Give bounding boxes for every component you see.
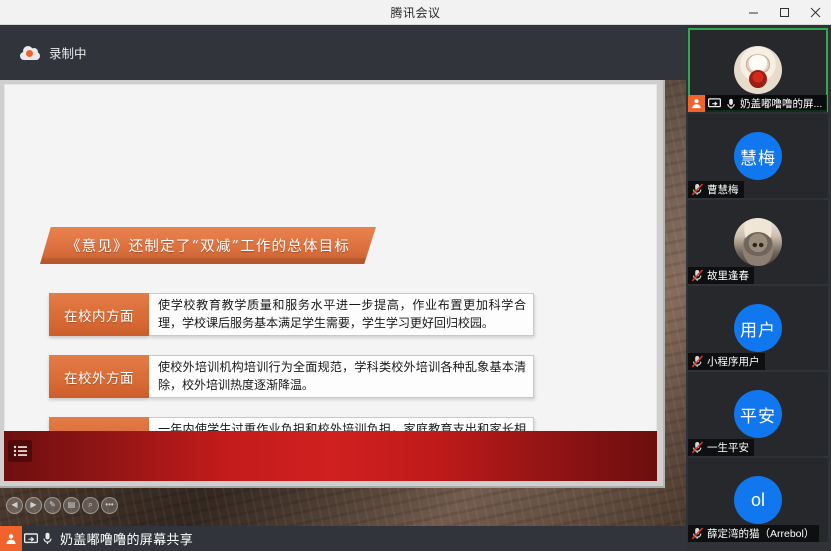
participant-rail[interactable]: 奶盖嘟噜噜的屏... 慧梅 曹慧梅 bbox=[686, 25, 831, 551]
window-titlebar: 腾讯会议 bbox=[0, 0, 831, 25]
maximize-button[interactable] bbox=[769, 0, 800, 25]
window-controls bbox=[738, 0, 831, 25]
zoom-tool-button[interactable]: ⌕ bbox=[82, 497, 99, 514]
microphone-muted-icon bbox=[691, 355, 704, 368]
recording-indicator[interactable]: 录制中 bbox=[20, 43, 87, 62]
presenter-chip: 奶盖嘟噜噜的屏幕共享 bbox=[0, 526, 193, 551]
previous-slide-button[interactable]: ◀ bbox=[6, 497, 23, 514]
participant-nametag: 故里逢春 bbox=[688, 267, 754, 284]
participant-nametag: 薛定湾的猫（Arrebol） bbox=[688, 525, 819, 542]
slide-footer-band bbox=[4, 431, 657, 481]
slide-row-body: 使校外培训机构培训行为全面规范，学科类校外培训各种乱象基本清除，校外培训热度逐渐… bbox=[149, 355, 534, 398]
recording-label: 录制中 bbox=[49, 43, 87, 62]
slide-banner: 《意见》还制定了“双减”工作的总体目标 bbox=[40, 227, 376, 264]
participant-name: 一生平安 bbox=[707, 440, 749, 455]
participant-nametag: 小程序用户 bbox=[688, 353, 765, 370]
presenter-name-label: 奶盖嘟噜噜的屏幕共享 bbox=[60, 529, 193, 548]
meeting-stage: 录制中 《意见》还制定了“双减”工作的总体目标 在校内方面 使学校教 bbox=[0, 25, 686, 551]
avatar: ol bbox=[734, 476, 782, 524]
participant-nametag: 奶盖嘟噜噜的屏... bbox=[688, 95, 827, 112]
microphone-icon bbox=[39, 526, 56, 551]
presentation-slide: 《意见》还制定了“双减”工作的总体目标 在校内方面 使学校教育教学质量和服务水平… bbox=[4, 84, 657, 481]
participant-name: 曹慧梅 bbox=[707, 182, 739, 197]
window-title: 腾讯会议 bbox=[390, 4, 440, 21]
slide-row-text: 使学校教育教学质量和服务水平进一步提高，作业布置更加科学合理，学校课后服务基本满… bbox=[158, 297, 526, 331]
presentation-window[interactable]: 《意见》还制定了“双减”工作的总体目标 在校内方面 使学校教育教学质量和服务水平… bbox=[0, 80, 665, 488]
all-slides-button[interactable]: ▤ bbox=[63, 497, 80, 514]
pen-tool-button[interactable]: ✎ bbox=[44, 497, 61, 514]
cloud-recording-icon bbox=[20, 46, 40, 60]
participant-name: 故里逢春 bbox=[707, 268, 749, 283]
minimize-button[interactable] bbox=[738, 0, 769, 25]
slide-row: 在校内方面 使学校教育教学质量和服务水平进一步提高，作业布置更加科学合理，学校课… bbox=[49, 293, 534, 336]
screen-share-icon bbox=[22, 526, 39, 551]
tencent-meeting-window: 腾讯会议 录制中 bbox=[0, 0, 831, 551]
participant-tile[interactable]: 慧梅 曹慧梅 bbox=[688, 114, 828, 198]
participant-tile[interactable]: 奶盖嘟噜噜的屏... bbox=[688, 28, 828, 112]
slide-row-text: 使校外培训机构培训行为全面规范，学科类校外培训各种乱象基本清除，校外培训热度逐渐… bbox=[158, 359, 526, 393]
presenter-toolbar[interactable]: ◀ ▶ ✎ ▤ ⌕ ••• bbox=[2, 494, 132, 516]
slide-row-body: 使学校教育教学质量和服务水平进一步提高，作业布置更加科学合理，学校课后服务基本满… bbox=[149, 293, 534, 336]
avatar bbox=[734, 218, 782, 266]
recording-bar: 录制中 bbox=[0, 25, 686, 80]
microphone-icon bbox=[724, 97, 737, 110]
participant-tile[interactable]: 平安 一生平安 bbox=[688, 372, 828, 456]
participant-tile[interactable]: 故里逢春 bbox=[688, 200, 828, 284]
microphone-muted-icon bbox=[691, 527, 704, 540]
microphone-muted-icon bbox=[691, 441, 704, 454]
close-button[interactable] bbox=[800, 0, 831, 25]
participant-tile[interactable]: ol 薛定湾的猫（Arrebol） bbox=[688, 458, 828, 542]
avatar: 慧梅 bbox=[734, 132, 782, 180]
participant-name: 薛定湾的猫（Arrebol） bbox=[707, 526, 814, 541]
participant-name: 小程序用户 bbox=[707, 354, 760, 369]
host-person-icon bbox=[0, 526, 22, 551]
presenter-name-bar: 奶盖嘟噜噜的屏幕共享 bbox=[0, 526, 686, 551]
screen-share-icon bbox=[708, 97, 721, 110]
next-slide-button[interactable]: ▶ bbox=[25, 497, 42, 514]
avatar bbox=[734, 46, 782, 94]
participant-name: 奶盖嘟噜噜的屏... bbox=[740, 96, 822, 111]
microphone-muted-icon bbox=[691, 269, 704, 282]
list-menu-icon[interactable] bbox=[8, 440, 32, 462]
host-person-icon bbox=[688, 95, 705, 112]
participant-tile[interactable]: 用户 小程序用户 bbox=[688, 286, 828, 370]
more-options-button[interactable]: ••• bbox=[101, 497, 118, 514]
slide-row: 在校外方面 使校外培训机构培训行为全面规范，学科类校外培训各种乱象基本清除，校外… bbox=[49, 355, 534, 398]
microphone-muted-icon bbox=[691, 183, 704, 196]
avatar: 用户 bbox=[734, 304, 782, 352]
slide-row-tag: 在校外方面 bbox=[49, 355, 149, 398]
participant-nametag: 曹慧梅 bbox=[688, 181, 744, 198]
avatar: 平安 bbox=[734, 390, 782, 438]
participant-nametag: 一生平安 bbox=[688, 439, 754, 456]
slide-row-tag: 在校内方面 bbox=[49, 293, 149, 336]
slide-banner-title: 《意见》还制定了“双减”工作的总体目标 bbox=[40, 227, 376, 264]
shared-screen-view[interactable]: 《意见》还制定了“双减”工作的总体目标 在校内方面 使学校教育教学质量和服务水平… bbox=[0, 80, 686, 526]
